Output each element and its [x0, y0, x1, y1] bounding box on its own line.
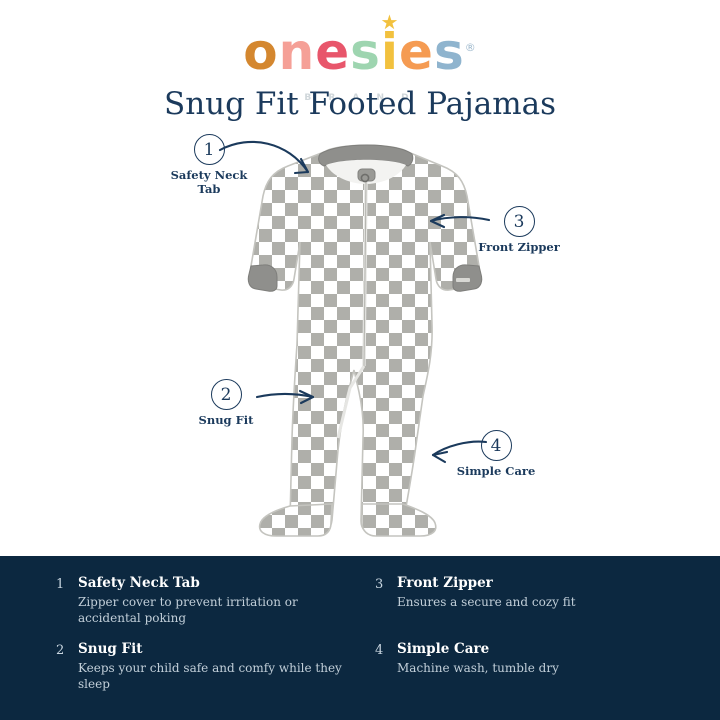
left-sleeve-cuff [248, 265, 277, 291]
legend-item-3-number: 3 [375, 574, 397, 594]
legend-item-2-title: Snug Fit [78, 640, 353, 659]
legend-item-4-number: 4 [375, 640, 397, 660]
legend-item-1-number: 1 [56, 574, 78, 594]
logo-letter-e1: e [315, 26, 350, 78]
legend-item-1-title: Safety Neck Tab [78, 574, 353, 593]
logo-letter-e2: e [399, 26, 434, 78]
legend-item-3-desc: Ensures a secure and cozy fit [397, 594, 672, 610]
legend-item-4-desc: Machine wash, tumble dry [397, 660, 672, 676]
legend-item-1-desc: Zipper cover to prevent irritation or ac… [78, 594, 353, 626]
infographic-page: ones★ies® B R A N D Snug Fit Footed Paja… [0, 0, 720, 720]
callout-2-label: Snug Fit [196, 414, 256, 428]
feature-legend-panel: 1 Safety Neck Tab Zipper cover to preven… [0, 556, 720, 720]
logo-letter-n: n [279, 26, 316, 78]
brand-logo: ones★ies® B R A N D [0, 22, 720, 78]
logo-letter-s1: s [350, 26, 381, 78]
callout-2: 2 Snug Fit [196, 379, 256, 428]
callout-4-arrow [428, 438, 490, 466]
callout-3-arrow [427, 210, 491, 232]
callout-3-number: 3 [504, 206, 535, 237]
legend-item-4-title: Simple Care [397, 640, 672, 659]
legend-item-2-number: 2 [56, 640, 78, 660]
legend-item-3-title: Front Zipper [397, 574, 672, 593]
legend-item-1: 1 Safety Neck Tab Zipper cover to preven… [56, 574, 353, 626]
size-label [456, 278, 470, 282]
callout-2-number: 2 [211, 379, 242, 410]
legend-item-4: 4 Simple Care Machine wash, tumble dry [375, 640, 672, 692]
legend-item-3: 3 Front Zipper Ensures a secure and cozy… [375, 574, 672, 626]
registered-trademark-icon: ® [465, 22, 477, 74]
callout-3: 3 Front Zipper [489, 206, 549, 237]
callout-4-label: Simple Care [444, 465, 548, 479]
feature-legend-grid: 1 Safety Neck Tab Zipper cover to preven… [56, 574, 672, 692]
logo-star-icon: ★ [381, 12, 400, 32]
legend-item-2: 2 Snug Fit Keeps your child safe and com… [56, 640, 353, 692]
logo-letter-i: ★i [381, 26, 399, 78]
legend-item-2-desc: Keeps your child safe and comfy while th… [78, 660, 353, 692]
brand-wordmark: ones★ies® B R A N D [243, 22, 476, 78]
logo-letter-s2: s [434, 26, 465, 78]
page-title: Snug Fit Footed Pajamas [0, 86, 720, 122]
callout-1-arrow [216, 136, 326, 190]
garment-feet [260, 504, 436, 536]
callout-3-label: Front Zipper [467, 241, 571, 255]
callout-2-arrow [255, 386, 323, 408]
logo-letter-o: o [243, 26, 278, 78]
